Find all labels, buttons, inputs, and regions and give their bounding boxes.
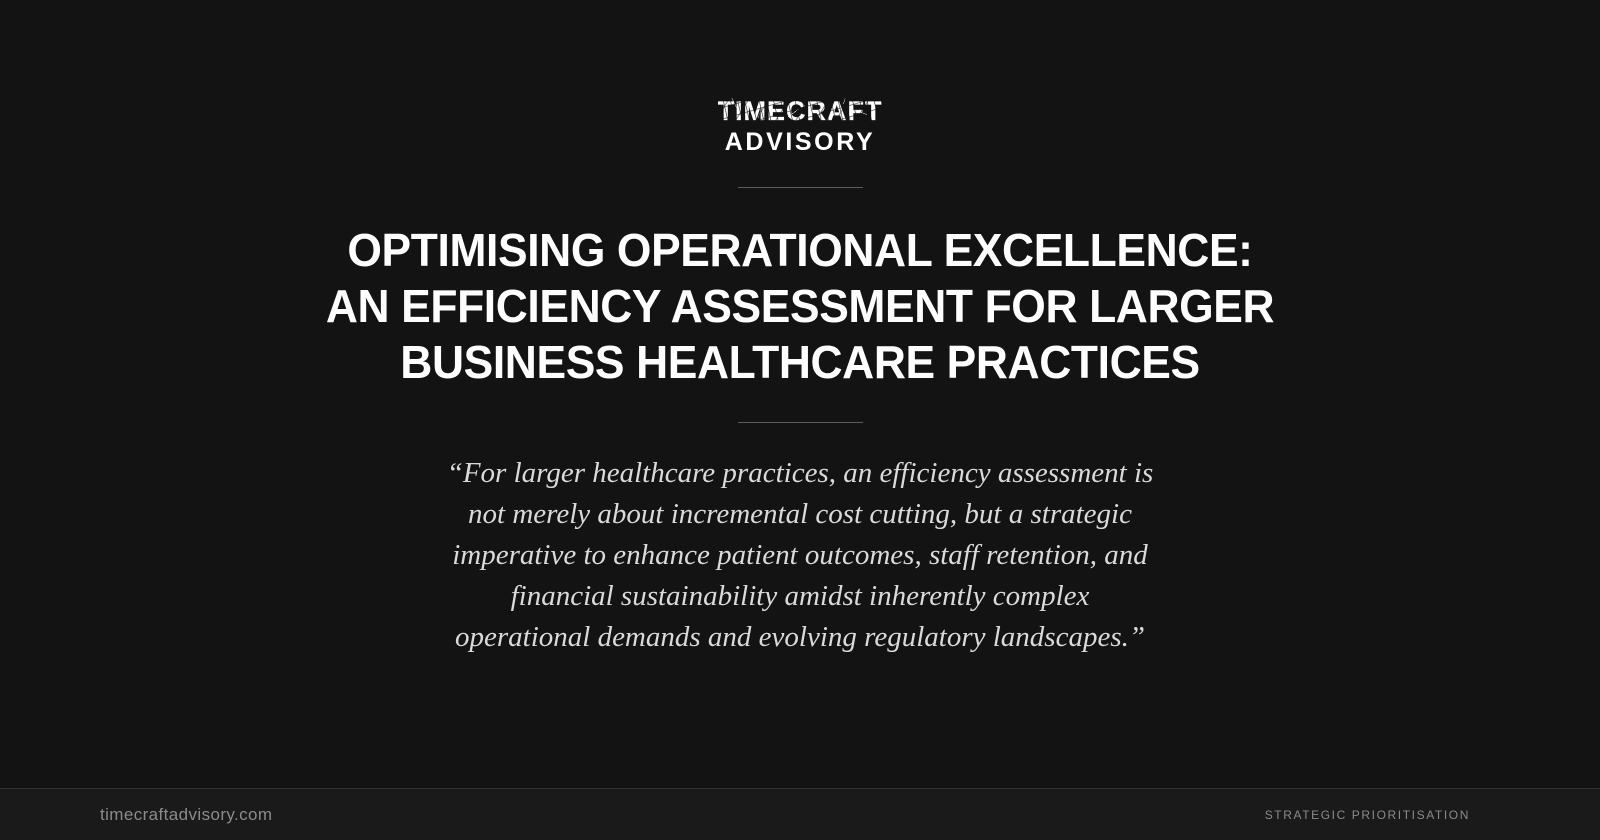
logo-wordmark-secondary: ADVISORY: [725, 130, 875, 155]
slide-content-stage: TIMECRAFT ADVISORY Optimising Operationa…: [0, 0, 1600, 788]
footer-section-label: STRATEGIC PRIORITISATION: [1265, 808, 1470, 822]
footer-website[interactable]: timecraftadvisory.com: [100, 805, 272, 825]
divider-below-title: [738, 422, 863, 423]
slide-title: Optimising Operational Excellence: An Ef…: [318, 222, 1283, 390]
logo-wordmark-primary: TIMECRAFT: [718, 98, 883, 125]
divider-above-title: [738, 187, 863, 188]
brand-logo: TIMECRAFT ADVISORY: [718, 98, 883, 155]
pull-quote: “For larger healthcare practices, an eff…: [440, 453, 1160, 658]
slide-footer: timecraftadvisory.com STRATEGIC PRIORITI…: [0, 788, 1600, 840]
presentation-slide: TIMECRAFT ADVISORY Optimising Operationa…: [0, 0, 1600, 840]
